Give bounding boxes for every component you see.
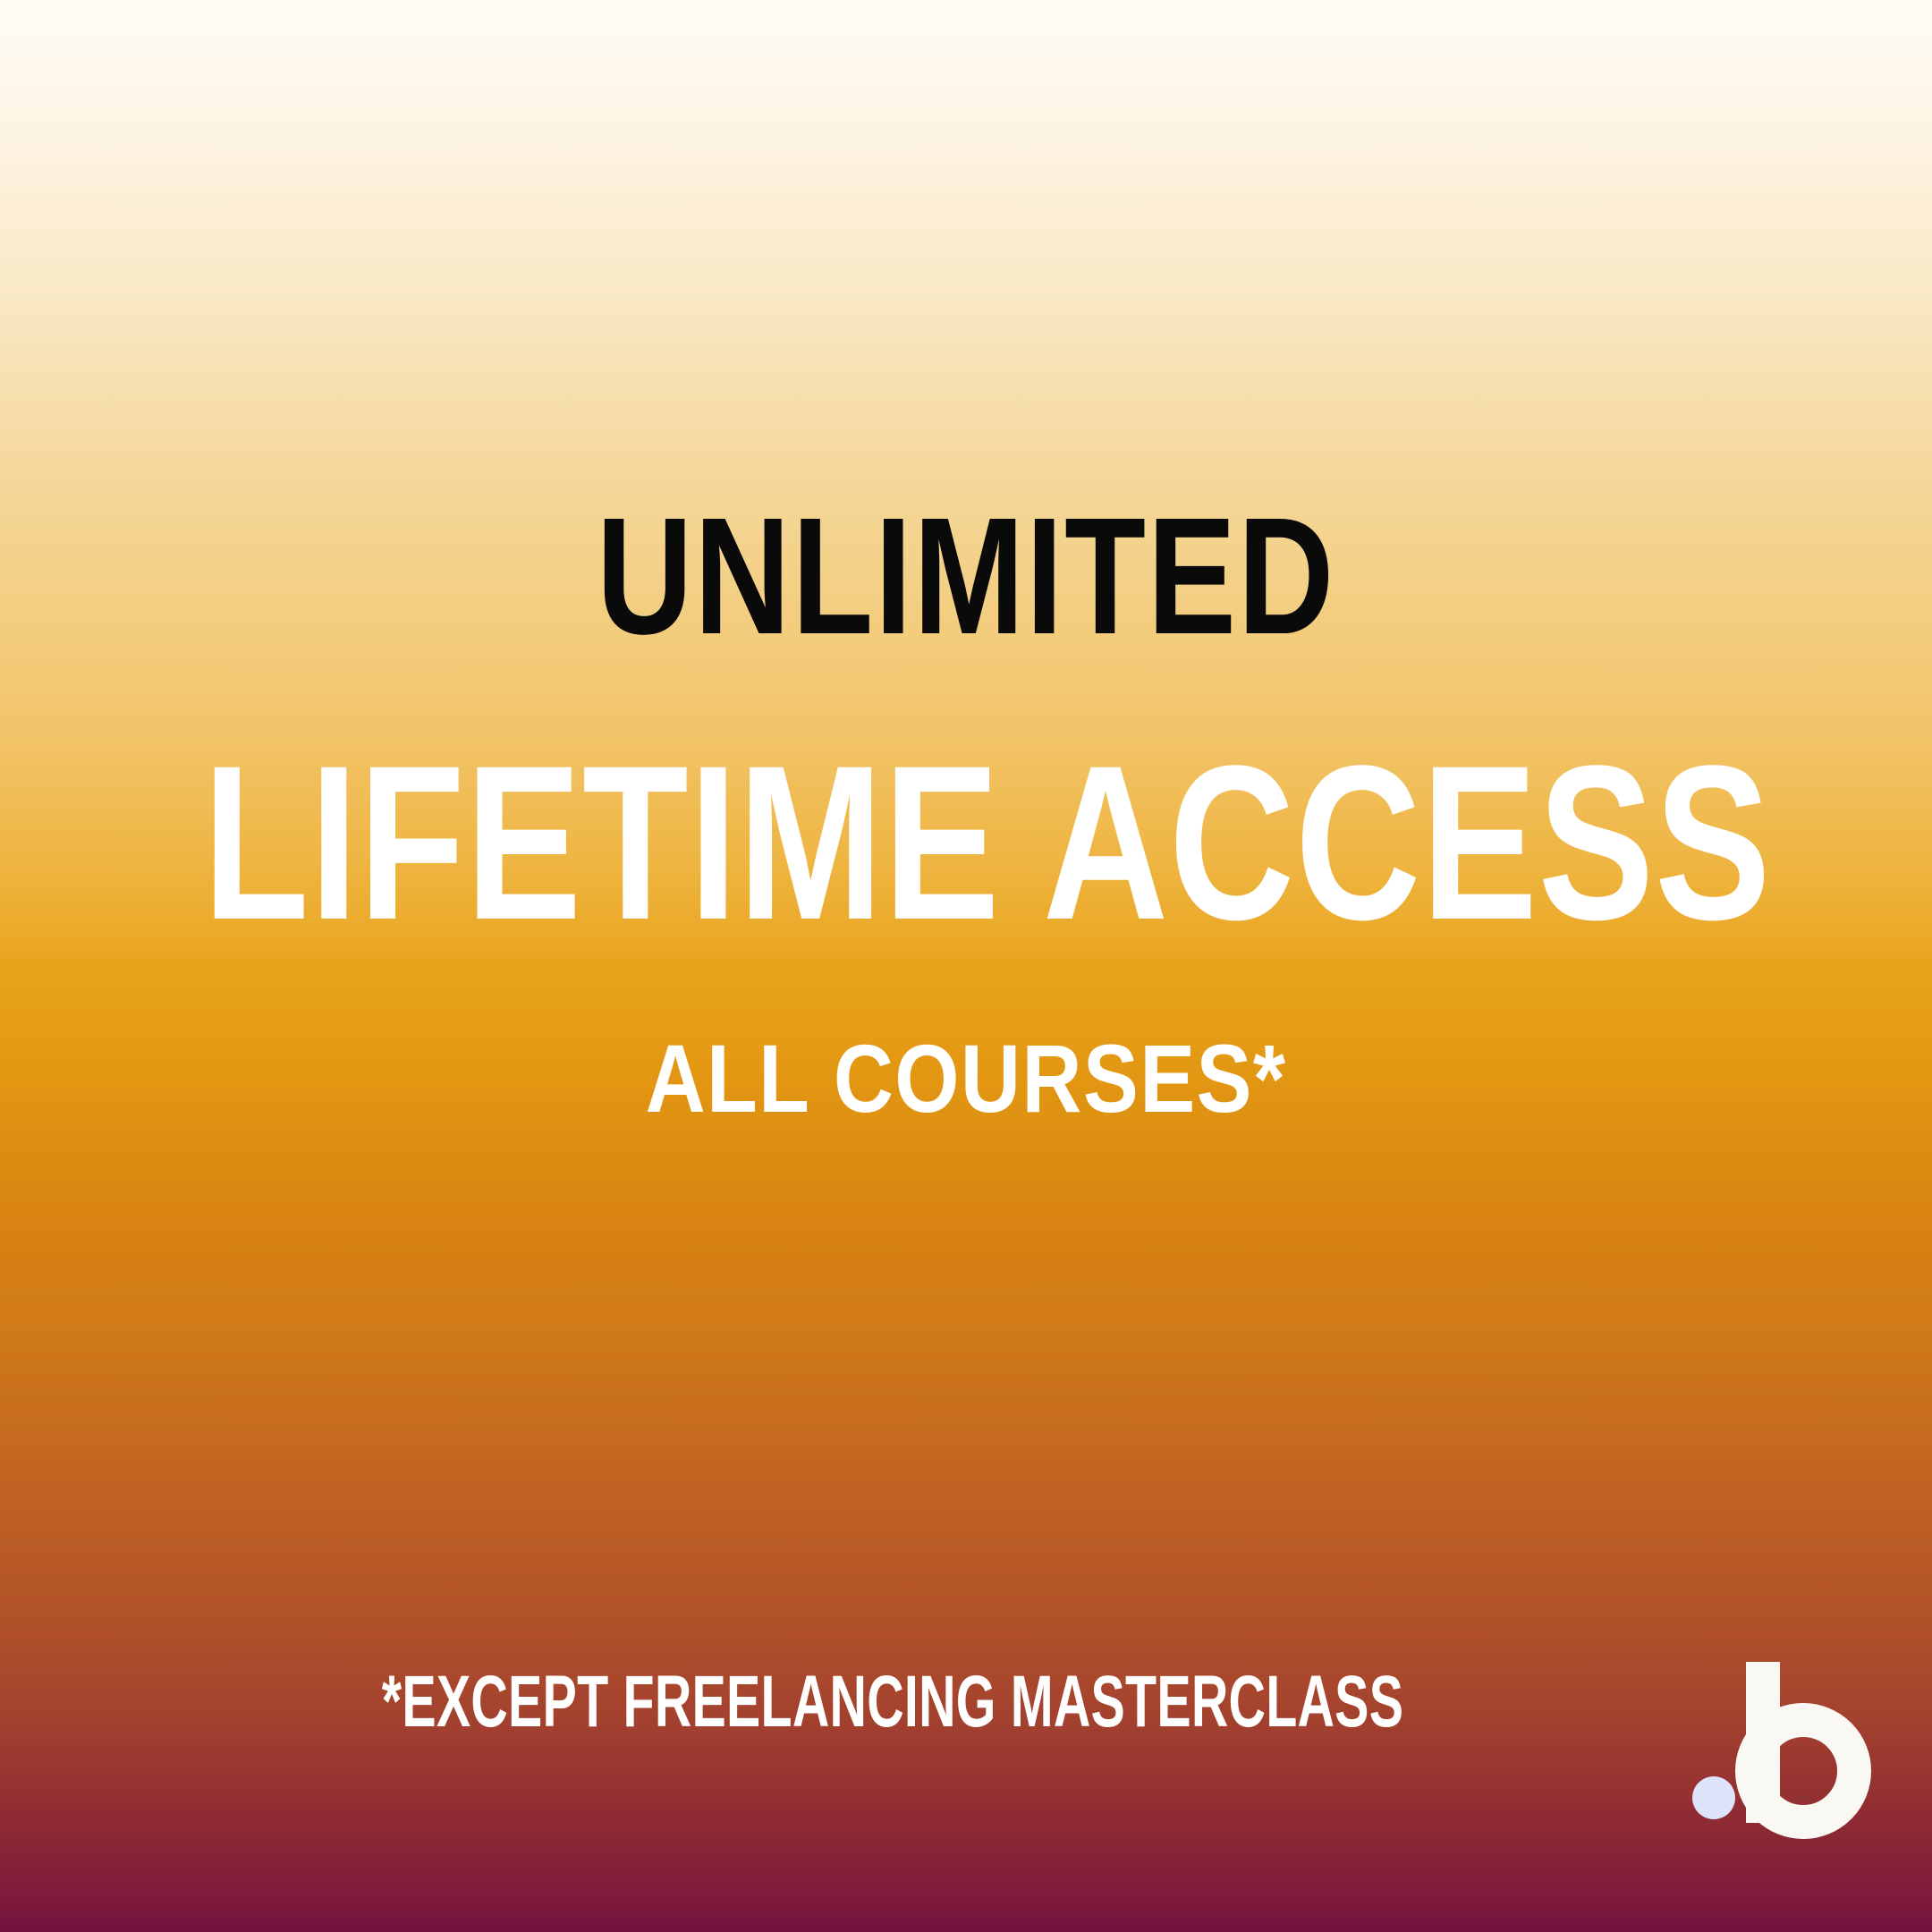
eyebrow-text: UNLIMITED [193, 494, 1739, 660]
logo-dot-icon [1692, 1776, 1735, 1819]
logo-b-bowl [1752, 1720, 1854, 1822]
promo-poster: UNLIMITED LIFETIME ACCESS ALL COURSES* *… [0, 0, 1932, 1932]
headline-text: LIFETIME ACCESS [203, 733, 1729, 953]
footnote-disclaimer-text: *EXCEPT FREELANCING MASTERCLASS [216, 1665, 1569, 1739]
brand-logo-b-icon [1687, 1637, 1898, 1848]
subheadline-text: ALL COURSES* [135, 1030, 1797, 1127]
brand-logo [1687, 1637, 1898, 1848]
